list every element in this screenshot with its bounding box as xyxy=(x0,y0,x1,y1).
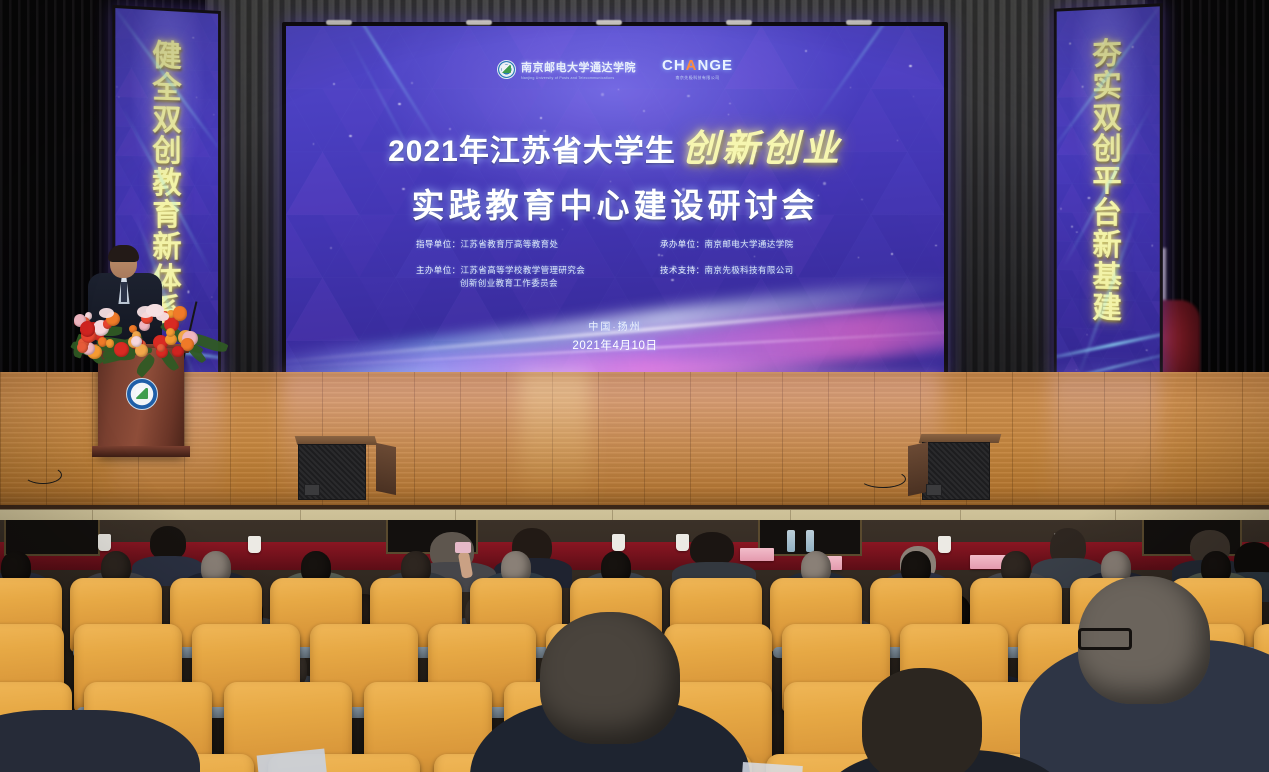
sparkle-dot xyxy=(330,247,332,249)
floor-plank xyxy=(276,372,277,508)
sparkle-dot xyxy=(479,140,481,142)
sparkle-dot xyxy=(729,103,730,104)
water-bottle xyxy=(806,530,814,552)
sparkle-dot xyxy=(1088,197,1090,199)
org-label: 承办单位： xyxy=(660,239,705,249)
org-credit-line: 技术支持：南京先极科技有限公司 xyxy=(660,264,884,290)
sparkle-dot xyxy=(1102,42,1104,44)
sparkle-dot xyxy=(313,143,314,144)
tea-cup xyxy=(98,534,111,551)
side-banner-right: 夯 实 双 创 平 台 新 基 建 xyxy=(1054,3,1163,381)
flower-bloom xyxy=(114,342,129,357)
floor-plank xyxy=(1196,372,1197,508)
university-logo-name-en: Nanjing University of Posts and Telecomm… xyxy=(521,76,636,80)
banner-char: 夯 xyxy=(1092,38,1122,71)
sparkle-dot xyxy=(1120,136,1121,137)
org-value: 南京先极科技有限公司 xyxy=(705,265,794,275)
sparkle-dot xyxy=(682,188,684,190)
flower-arrangement xyxy=(62,300,202,362)
sponsor-logo-word: CHANGE xyxy=(662,57,733,74)
speaker-hair xyxy=(108,245,139,262)
title-line-1: 2021年江苏省大学生 创新创业 xyxy=(286,118,944,172)
banner-char: 双 xyxy=(152,104,182,137)
ceiling-light-icon xyxy=(596,20,622,25)
floor-plank xyxy=(1012,372,1013,508)
flower-bloom xyxy=(106,339,115,348)
stage-floor xyxy=(0,372,1269,508)
sparkle-dot xyxy=(437,148,438,149)
foreground-center-head xyxy=(540,612,680,744)
monitor-side xyxy=(908,442,928,496)
floor-plank xyxy=(92,372,93,508)
flower-bloom xyxy=(173,306,187,320)
sparkle-dot xyxy=(819,134,822,137)
sparkle-dot xyxy=(1146,349,1147,350)
org-label: 技术支持： xyxy=(660,265,705,275)
tea-cup xyxy=(248,536,261,553)
title-line-2: 实践教育中心建设研讨会 xyxy=(286,179,944,227)
screen-title-block: 2021年江苏省大学生 创新创业 实践教育中心建设研讨会 xyxy=(286,118,944,227)
cable-right xyxy=(860,470,906,488)
banner-reflection-right xyxy=(1050,372,1160,508)
eyeglasses-icon xyxy=(1078,628,1132,650)
org-value: 江苏省教育厅高等教育处 xyxy=(461,239,559,249)
university-logo-name: 南京邮电大学通达学院 xyxy=(521,59,636,75)
monitor-connector xyxy=(304,484,320,496)
sparkle-dot xyxy=(823,182,826,185)
sparkle-dot xyxy=(449,128,451,130)
delegate-name-card xyxy=(740,548,774,561)
sparkle-dot xyxy=(601,93,604,96)
flower-bloom xyxy=(157,344,165,352)
ceiling-light-icon xyxy=(846,20,872,25)
sponsor-logo: CHANGE 南京先极科技有限公司 xyxy=(662,57,733,81)
floor-plank xyxy=(46,372,47,508)
monitor-connector xyxy=(926,484,942,496)
banner-char: 健 xyxy=(152,40,182,73)
tea-cup xyxy=(612,534,625,551)
speaker-tie xyxy=(121,282,127,302)
banner-char: 创 xyxy=(152,136,182,168)
flower-bloom xyxy=(80,321,95,336)
flower-bloom xyxy=(172,346,184,358)
org-value: 江苏省高等学校教学管理研究会 xyxy=(461,265,586,275)
place-date-block: 中国·扬州 2021年4月10日 xyxy=(286,318,944,353)
tea-cup xyxy=(938,536,951,553)
sponsor-logo-sub: 南京先极科技有限公司 xyxy=(662,75,733,81)
podium-base xyxy=(92,446,190,457)
screen-top-lights xyxy=(286,20,936,26)
event-place: 中国·扬州 xyxy=(286,318,944,333)
podium-reflection xyxy=(520,372,590,508)
foreground-right-head xyxy=(862,668,982,772)
sparkle-dot xyxy=(411,82,413,84)
audience-area xyxy=(0,520,1269,772)
sparkle-dot xyxy=(1060,208,1061,209)
sparkle-dot xyxy=(1132,46,1134,48)
title-brush-part: 创新创业 xyxy=(682,118,842,172)
sparkle-dot xyxy=(211,296,212,297)
ceiling-light-icon xyxy=(466,20,492,25)
floor-plank xyxy=(230,372,231,508)
org-value-second-line: 创新创业教育工作委员会 xyxy=(416,277,640,290)
floor-plank xyxy=(0,372,1,508)
banner-char: 新 xyxy=(1092,230,1122,262)
sparkle-dot xyxy=(891,253,893,255)
sparkle-dot xyxy=(858,257,859,258)
flower-bloom xyxy=(131,336,142,347)
speaker-glasses-icon xyxy=(113,261,134,267)
main-led-screen: 南京邮电大学通达学院 Nanjing University of Posts a… xyxy=(282,22,948,382)
phone-device xyxy=(455,542,471,553)
stage-monitor-right xyxy=(906,434,1008,502)
org-value: 南京邮电大学通达学院 xyxy=(705,239,794,249)
tea-cup xyxy=(676,534,689,551)
org-credit-line: 指导单位：江苏省教育厅高等教育处 xyxy=(416,238,640,251)
sparkle-dot xyxy=(187,291,189,293)
university-seal-icon xyxy=(497,60,516,79)
conference-photo-scene: 健 全 双 创 教 育 新 体 系 夯 实 双 创 平 台 新 基 xyxy=(0,0,1269,772)
organization-credits: 指导单位：江苏省教育厅高等教育处 承办单位：南京邮电大学通达学院 主办单位：江苏… xyxy=(416,238,884,291)
banner-char: 育 xyxy=(152,200,182,232)
monitor-side xyxy=(376,443,396,495)
sparkle-dot xyxy=(1071,226,1073,228)
university-logo: 南京邮电大学通达学院 Nanjing University of Posts a… xyxy=(497,59,636,80)
sparkle-dot xyxy=(728,114,729,115)
sparkle-dot xyxy=(553,193,554,194)
sparkle-dot xyxy=(695,269,696,270)
org-credit-line: 主办单位：江苏省高等学校教学管理研究会 创新创业教育工作委员会 xyxy=(416,264,640,290)
sparkle-dot xyxy=(861,199,862,200)
org-label: 主办单位： xyxy=(416,265,461,275)
podium-university-seal-icon xyxy=(126,378,158,410)
water-bottle xyxy=(787,530,795,552)
sparkle-dot xyxy=(658,254,659,255)
org-credit-line: 承办单位：南京邮电大学通达学院 xyxy=(660,238,884,251)
sparkle-dot xyxy=(1069,43,1070,45)
stage-monitor-left xyxy=(296,436,398,502)
org-label: 指导单位： xyxy=(416,239,461,249)
sparkle-dot xyxy=(618,89,619,90)
sparkle-dot xyxy=(897,140,898,141)
sparkle-dot xyxy=(850,87,851,88)
sparkle-dot xyxy=(543,130,545,132)
banner-char: 新 xyxy=(152,232,182,264)
lily-bloom xyxy=(137,306,154,318)
sponsor-accent-letter: A xyxy=(686,57,698,74)
sparkle-dot xyxy=(349,135,351,137)
cable-left xyxy=(24,466,62,484)
floor-plank xyxy=(1242,372,1243,508)
sparkle-dot xyxy=(671,279,673,281)
ceiling-light-icon xyxy=(726,20,752,25)
audience-head xyxy=(150,526,186,560)
ceiling-light-icon xyxy=(326,20,352,25)
event-date: 2021年4月10日 xyxy=(286,337,944,353)
banner-char: 双 xyxy=(1092,102,1122,134)
audience-head xyxy=(690,532,734,566)
